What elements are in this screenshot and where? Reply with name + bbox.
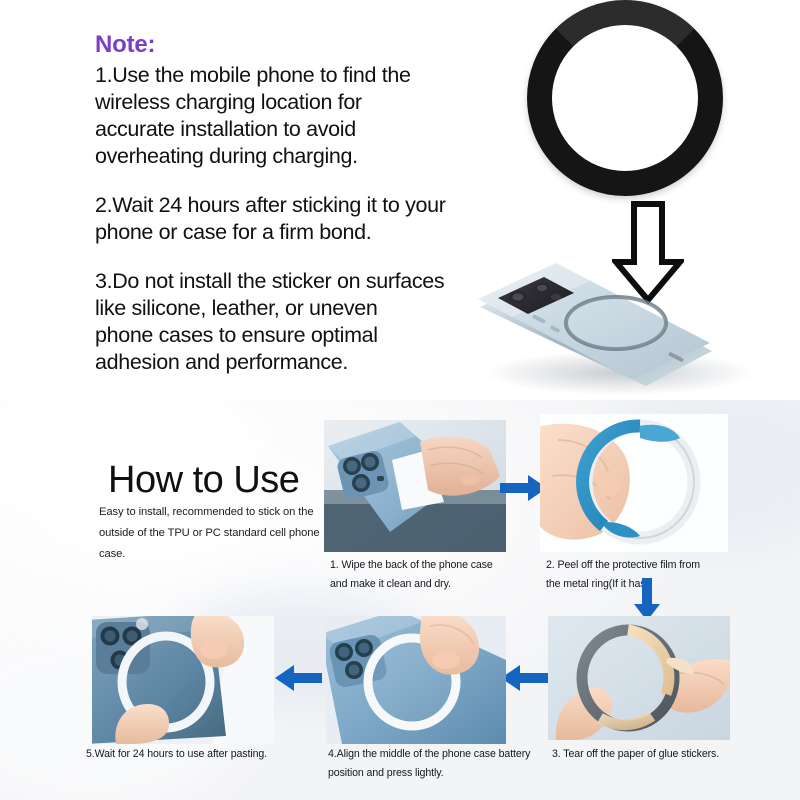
step-5-caption: 5.Wait for 24 hours to use after pasting… xyxy=(86,745,267,764)
note-item-2: 2.Wait 24 hours after sticking it to you… xyxy=(95,192,495,246)
step-2-photo xyxy=(540,414,728,552)
step-4-caption-line-1: 4.Align the middle of the phone case bat… xyxy=(328,745,530,764)
note-item-1-line-3: accurate installation to avoid xyxy=(95,116,495,143)
note-heading: Note: xyxy=(95,30,495,60)
step-3-caption-line-1: 3. Tear off the paper of glue stickers. xyxy=(552,745,719,764)
how-to-use-subtitle-line-2: outside of the TPU or PC standard cell p… xyxy=(99,523,331,544)
note-item-1: 1.Use the mobile phone to find the wirel… xyxy=(95,62,495,170)
note-item-3-line-3: phone cases to ensure optimal xyxy=(95,322,495,349)
step-4-caption: 4.Align the middle of the phone case bat… xyxy=(328,745,530,783)
step-4-photo xyxy=(326,616,506,744)
step-4-caption-line-2: position and press lightly. xyxy=(328,764,530,783)
note-item-3: 3.Do not install the sticker on surfaces… xyxy=(95,268,495,376)
step-1-caption-line-2: and make it clean and dry. xyxy=(330,575,493,594)
note-item-1-line-4: overheating during charging. xyxy=(95,143,495,170)
arrow-left-icon-step3-to-step4 xyxy=(500,663,548,693)
step-1-caption-line-1: 1. Wipe the back of the phone case xyxy=(330,556,493,575)
phone-with-magnetic-ring-illustration xyxy=(470,255,800,400)
step-3-caption: 3. Tear off the paper of glue stickers. xyxy=(552,745,719,764)
note-item-1-line-1: 1.Use the mobile phone to find the xyxy=(95,62,495,89)
step-2-caption: 2. Peel off the protective film from the… xyxy=(546,556,700,594)
infographic-page: Note: 1.Use the mobile phone to find the… xyxy=(0,0,800,800)
note-item-3-line-1: 3.Do not install the sticker on surfaces xyxy=(95,268,495,295)
how-to-use-subtitle-line-3: case. xyxy=(99,544,331,565)
how-to-use-subtitle-line-1: Easy to install, recommended to stick on… xyxy=(99,502,331,523)
step-2-caption-line-1: 2. Peel off the protective film from xyxy=(546,556,700,575)
step-1-caption: 1. Wipe the back of the phone case and m… xyxy=(330,556,493,594)
note-and-hero-section: Note: 1.Use the mobile phone to find the… xyxy=(0,0,800,400)
note-item-1-line-2: wireless charging location for xyxy=(95,89,495,116)
note-item-3-line-4: adhesion and performance. xyxy=(95,349,495,376)
step-5-caption-line-1: 5.Wait for 24 hours to use after pasting… xyxy=(86,745,267,764)
step-5-photo xyxy=(92,616,274,744)
note-item-2-line-2: phone or case for a firm bond. xyxy=(95,219,495,246)
how-to-use-title: How to Use xyxy=(108,458,299,502)
note-block: Note: 1.Use the mobile phone to find the… xyxy=(95,30,495,376)
magnet-ring-black-icon xyxy=(527,0,723,196)
arrow-left-icon-step4-to-step5 xyxy=(274,663,322,693)
how-to-use-subtitle: Easy to install, recommended to stick on… xyxy=(99,502,331,565)
note-item-2-line-1: 2.Wait 24 hours after sticking it to you… xyxy=(95,192,495,219)
note-item-3-line-2: like silicone, leather, or uneven xyxy=(95,295,495,322)
step-1-photo xyxy=(324,420,506,552)
step-3-photo xyxy=(548,616,730,740)
step-2-caption-line-2: the metal ring(If it has). xyxy=(546,575,700,594)
